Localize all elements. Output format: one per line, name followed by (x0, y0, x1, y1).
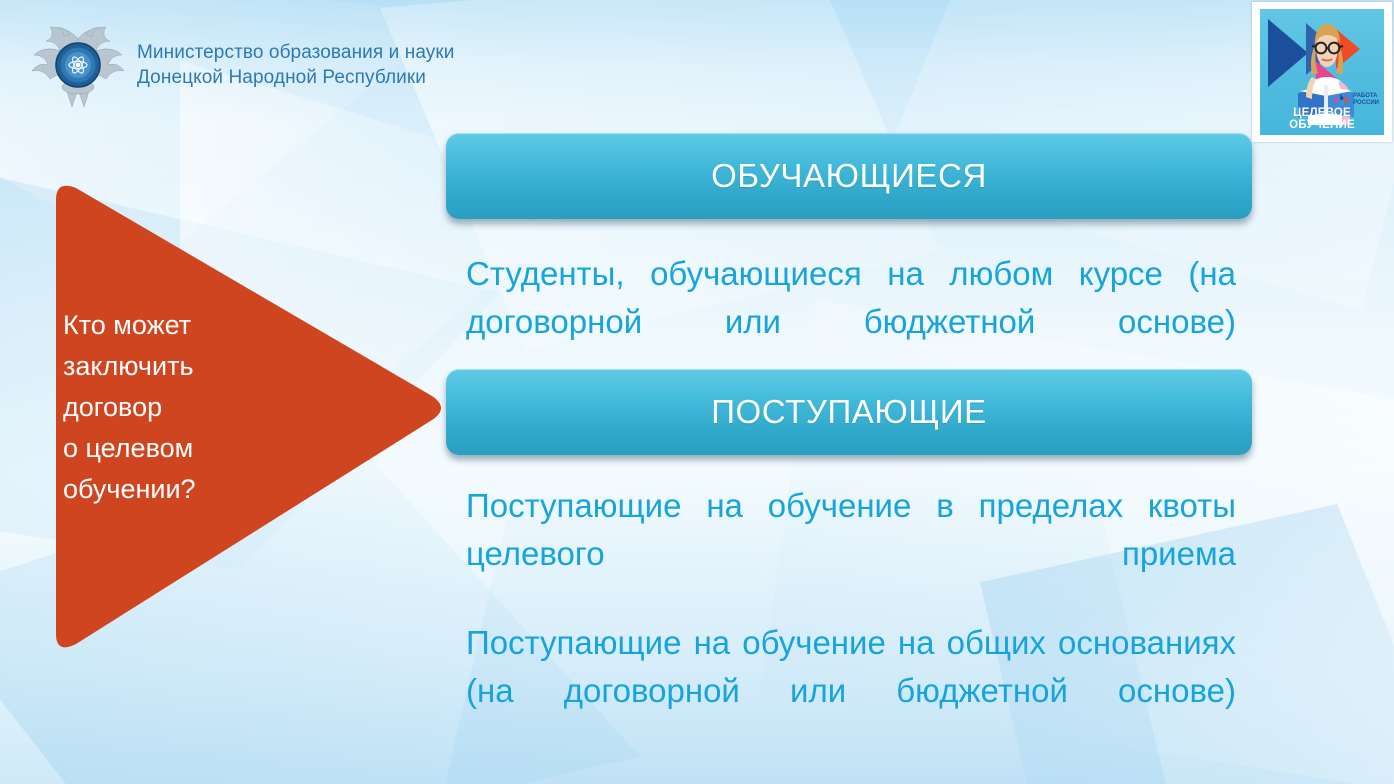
banner-applicants-label: ПОСТУПАЮЩИЕ (711, 393, 987, 431)
rabota-rossii-chevrons-icon (1335, 93, 1351, 107)
banner-students[interactable]: ОБУЧАЮЩИЕСЯ (446, 133, 1252, 219)
target-training-badge: РАБОТА РОССИИ ЦЕЛЕВОЕ ОБУЧЕНИЕ (1252, 2, 1392, 142)
banner-students-label: ОБУЧАЮЩИЕСЯ (711, 157, 987, 195)
badge-caption: ЦЕЛЕВОЕ ОБУЧЕНИЕ (1260, 107, 1384, 131)
ministry-title: Министерство образования и науки Донецко… (137, 40, 455, 90)
slide-canvas: Министерство образования и науки Донецко… (0, 0, 1394, 784)
banner-applicants[interactable]: ПОСТУПАЮЩИЕ (446, 369, 1252, 455)
paragraph-general-basis: Поступающие на обучение на общих основан… (466, 619, 1236, 763)
rabota-rossii-logo: РАБОТА РОССИИ (1335, 93, 1379, 107)
arrow-question-text: Кто может заключить договор о целевом об… (63, 305, 278, 510)
badge-artwork: РАБОТА РОССИИ ЦЕЛЕВОЕ ОБУЧЕНИЕ (1260, 9, 1384, 135)
double-headed-eagle-emblem (28, 21, 128, 113)
rabota-rossii-logo-text: РАБОТА РОССИИ (1353, 93, 1379, 107)
paragraph-quota: Поступающие на обучение в пределах квоты… (466, 482, 1236, 626)
